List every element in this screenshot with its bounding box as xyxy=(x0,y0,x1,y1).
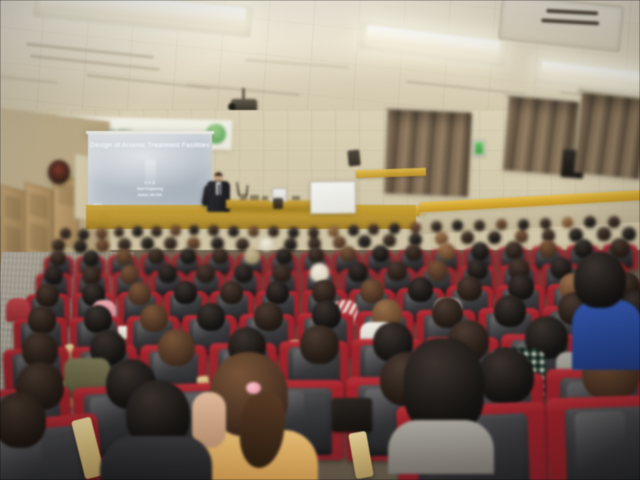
audience-person xyxy=(220,281,243,304)
audience-head xyxy=(452,220,463,231)
audience-head xyxy=(496,219,507,230)
audience-head xyxy=(96,228,107,239)
audience-head xyxy=(410,222,421,233)
audience-head xyxy=(50,250,66,266)
audience-person xyxy=(408,277,433,302)
audience-head xyxy=(60,228,71,239)
floor-speaker xyxy=(273,198,283,209)
audience-person xyxy=(84,305,112,333)
audience-head xyxy=(308,247,324,263)
audience-head xyxy=(180,248,196,264)
auditorium-photo: 환경기술 세미나 Design of Arsenic Treatment Fac… xyxy=(0,0,640,480)
audience-head xyxy=(151,226,162,237)
audience-head xyxy=(540,218,551,229)
audience-person xyxy=(140,304,168,332)
audience-head xyxy=(116,249,132,265)
audience-head xyxy=(597,227,611,241)
hair-tie xyxy=(246,382,261,394)
audience-head xyxy=(44,266,63,285)
audience-head xyxy=(372,245,389,262)
curtain-1[interactable] xyxy=(384,109,472,197)
audience-head xyxy=(132,226,143,237)
desk-object-3 xyxy=(262,196,268,200)
audience-head xyxy=(196,264,215,283)
foreground-person-head xyxy=(0,392,46,448)
audience-head xyxy=(488,231,501,244)
audience-head xyxy=(148,248,164,264)
audience-head xyxy=(114,227,124,237)
audience-person xyxy=(128,282,151,305)
audience-head xyxy=(584,216,596,228)
audience-head xyxy=(212,248,228,264)
foreground-person-top xyxy=(100,436,212,480)
curtain-3[interactable] xyxy=(574,93,640,179)
audience-head xyxy=(474,220,485,231)
audience-head xyxy=(562,217,573,228)
foreground-person-top xyxy=(572,300,640,370)
audience-person xyxy=(266,281,289,304)
audience-head xyxy=(368,224,379,235)
audience-head xyxy=(170,225,181,236)
audience-head xyxy=(438,243,455,260)
slide-subtitle-3: Boston, MA USA xyxy=(88,193,212,198)
wall-wreath-decoration xyxy=(48,160,70,184)
slide-logo-right: AWWA xyxy=(196,136,207,140)
audience-head xyxy=(78,229,89,240)
foreground-person-top xyxy=(388,420,494,474)
audience-head xyxy=(244,248,260,264)
audience-head xyxy=(505,241,523,259)
wall-speaker xyxy=(347,149,361,166)
audience-head xyxy=(539,240,557,258)
slide-subtitle-1: G. E. B. xyxy=(88,181,212,186)
presentation-table xyxy=(226,200,312,210)
audience-person xyxy=(158,329,195,366)
desk-object-4 xyxy=(292,196,300,200)
slide-subtitle-2: MWH Engineering xyxy=(88,187,212,192)
audience-head xyxy=(268,226,279,237)
audience-head xyxy=(518,219,529,230)
audience-head xyxy=(276,248,292,264)
audience-head xyxy=(471,242,489,260)
audience-person xyxy=(36,284,59,307)
audience-head xyxy=(208,225,219,236)
audience-head xyxy=(83,250,99,266)
audience-head xyxy=(228,226,239,237)
audience-head xyxy=(340,246,356,262)
audience-head xyxy=(431,221,442,232)
audience-head xyxy=(248,226,259,237)
audience-head xyxy=(189,225,199,235)
foreground-person-head xyxy=(574,252,626,308)
audience-head xyxy=(358,235,371,248)
desk-object-2 xyxy=(250,195,259,200)
audience-head xyxy=(405,244,422,261)
audience-head xyxy=(260,238,273,251)
seat-foreground-far-right[interactable] xyxy=(546,394,640,480)
exit-sign xyxy=(473,140,485,156)
audience-head xyxy=(288,227,299,238)
presenter-tie xyxy=(218,184,220,195)
audience-person xyxy=(478,348,534,404)
audience-head xyxy=(164,237,177,250)
handbag xyxy=(332,398,372,432)
audience-head xyxy=(389,223,400,234)
audience-person xyxy=(494,295,526,327)
audience-person xyxy=(174,281,197,304)
slide-title: Design of Arsenic Treatment Facilities xyxy=(88,142,212,149)
projection-screen: Design of Arsenic Treatment Facilities G… xyxy=(88,134,212,210)
audience-person xyxy=(300,325,339,364)
audience-head xyxy=(387,261,407,281)
audience-person xyxy=(197,303,225,331)
audience-person xyxy=(28,306,56,334)
whiteboard xyxy=(310,181,356,214)
